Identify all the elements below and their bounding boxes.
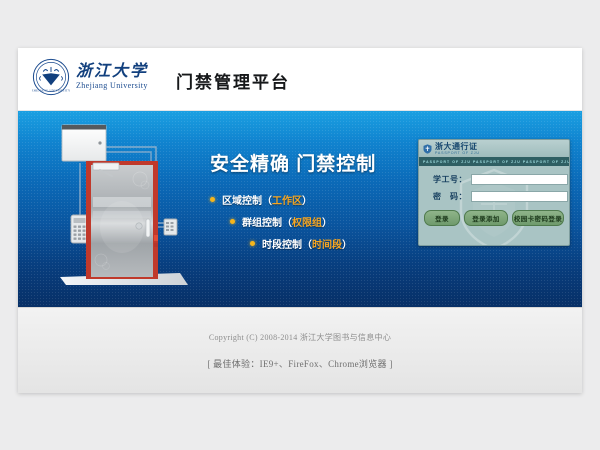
login-button-row: 登录 登录添加 校园卡密码登录 [419,208,569,226]
bullet-icon [250,241,255,246]
page-card: ZHEJIANG UNIVERSITY 浙江大学 Zhejiang Univer… [18,48,582,393]
brand-wordmark: 浙江大学 Zhejiang University [76,63,148,91]
login-form: 学工号： 密 码： [419,166,569,202]
banner-copy: 安全精确 门禁控制 区域控制（工作区） 群组控制（权限组） 时段控制（时间段） [210,149,420,258]
password-label: 密 码： [427,191,471,202]
feature-label: 时段控制（ [262,236,312,251]
login-panel-title-cn: 浙大通行证 [435,142,480,151]
zju-seal-icon: ZHEJIANG UNIVERSITY [32,58,70,96]
svg-text:ZHEJIANG UNIVERSITY: ZHEJIANG UNIVERSITY [32,89,70,93]
login-panel-title-en: PASSPORT OF ZJU [435,151,480,156]
browser-compatibility-note: [ 最佳体验：IE9+、FireFox、Chrome浏览器 ] [207,357,392,370]
brand-logo[interactable]: ZHEJIANG UNIVERSITY 浙江大学 Zhejiang Univer… [32,58,148,96]
userid-input[interactable] [471,174,568,185]
feature-tail: ） [322,214,332,229]
feature-accent: 时间段 [312,236,342,251]
access-control-door-illustration [44,119,200,299]
feature-accent: 权限组 [292,214,322,229]
shield-icon [423,144,432,154]
feature-item-group: 群组控制（权限组） [210,214,420,229]
passport-marquee-band: PASSPORT OF ZJU PASSPORT OF ZJU PASSPORT… [419,157,569,166]
login-panel-titlebar: 浙大通行证 PASSPORT OF ZJU [419,140,569,157]
userid-label: 学工号： [427,174,471,185]
feature-tail: ） [342,236,352,251]
campus-card-login-button[interactable]: 校园卡密码登录 [512,210,564,226]
feature-item-timeslot: 时段控制（时间段） [210,236,420,251]
page-title: 门禁管理平台 [176,68,290,93]
bullet-icon [210,197,215,202]
hero-banner: 安全精确 门禁控制 区域控制（工作区） 群组控制（权限组） 时段控制（时间段） [18,111,582,307]
feature-item-area: 区域控制（工作区） [210,192,420,207]
feature-label: 群组控制（ [242,214,292,229]
field-row-password: 密 码： [427,191,561,202]
bullet-icon [230,219,235,224]
brand-name-cn: 浙江大学 [76,63,148,81]
login-add-button[interactable]: 登录添加 [464,210,508,226]
login-panel: 浙大通行证 PASSPORT OF ZJU PASSPORT OF ZJU PA… [418,139,570,246]
brand-name-en: Zhejiang University [76,81,148,91]
banner-headline: 安全精确 门禁控制 [210,149,420,176]
login-button[interactable]: 登录 [424,210,460,226]
marquee-text: PASSPORT OF ZJU PASSPORT OF ZJU PASSPORT… [419,160,569,164]
field-row-userid: 学工号： [427,174,561,185]
feature-tail: ） [302,192,312,207]
site-header: ZHEJIANG UNIVERSITY 浙江大学 Zhejiang Univer… [18,48,582,111]
site-footer: Copyright (C) 2008-2014 浙江大学图书与信息中心 [ 最佳… [18,307,582,393]
feature-accent: 工作区 [272,192,302,207]
password-input[interactable] [471,191,568,202]
feature-label: 区域控制（ [222,192,272,207]
feature-list: 区域控制（工作区） 群组控制（权限组） 时段控制（时间段） [210,192,420,251]
copyright-text: Copyright (C) 2008-2014 浙江大学图书与信息中心 [209,332,391,343]
